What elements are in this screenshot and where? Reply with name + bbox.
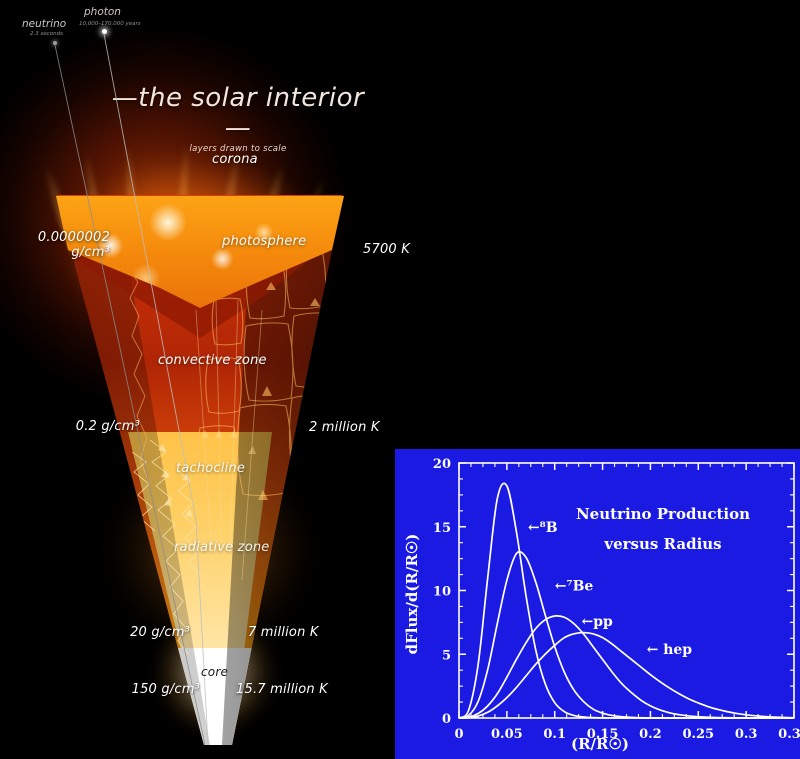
particle-paths (0, 0, 400, 759)
chart-ytick-label: 20 (433, 457, 451, 472)
chart-title-line2: versus Radius (603, 535, 721, 553)
density-label-core: 150 g/cm³ (0, 682, 200, 697)
chart-ytick-label: 5 (442, 648, 451, 663)
chart-xtick-label: 0.2 (639, 727, 662, 742)
temperature-label-convective: 2 million K (309, 420, 380, 435)
chart-annotation-hep: ← hep (647, 642, 693, 658)
chart-xtick-label: 0.05 (491, 727, 523, 742)
chart-ytick-label: 0 (442, 712, 451, 727)
chart-title-line1: Neutrino Production (576, 505, 750, 523)
chart-ytick-label: 10 (433, 585, 451, 600)
chart-annotation-7Be: ←⁷Be (555, 578, 594, 594)
chart-svg: 00.050.10.150.20.250.30.3505101520 ←⁸B←⁷… (395, 449, 800, 759)
chart-xtick-label: 0 (454, 727, 463, 742)
chart-xtick-label: 0.1 (543, 727, 566, 742)
temperature-label-photosphere: 5700 K (363, 242, 410, 257)
temperature-label-radiative: 7 million K (248, 625, 319, 640)
chart-ytick-label: 15 (433, 521, 451, 536)
zone-label-radiative-zone: radiative zone (174, 540, 270, 555)
zone-label-tachocline: tachocline (176, 461, 245, 476)
zone-label-convective-zone: convective zone (158, 353, 267, 368)
density-unit-photosphere: g/cm³ (0, 245, 110, 260)
chart-xaxis-label: (R/R☉) (571, 735, 629, 753)
chart-xtick-label: 0.3 (735, 727, 758, 742)
density-label-radiative: 20 g/cm³ (0, 625, 190, 640)
chart-xtick-label: 0.35 (778, 727, 800, 742)
density-label-convective: 0.2 g/cm³ (0, 419, 140, 434)
density-label-photosphere: 0.0000002 (0, 230, 110, 245)
zone-label-photosphere: photosphere (222, 234, 306, 249)
zone-label-corona: corona (212, 152, 258, 167)
zone-label-core: core (201, 665, 228, 679)
chart-xtick-label: 0.25 (682, 727, 714, 742)
chart-yaxis-label: dFlux/d(R/R☉) (403, 534, 421, 655)
temperature-label-core: 15.7 million K (236, 682, 328, 697)
chart-annotation-pp: ←pp (582, 614, 614, 630)
chart-annotation-8B: ←⁸B (528, 520, 558, 536)
chart-background (395, 449, 800, 759)
neutrino-production-chart: 00.050.10.150.20.250.30.3505101520 ←⁸B←⁷… (395, 449, 800, 759)
